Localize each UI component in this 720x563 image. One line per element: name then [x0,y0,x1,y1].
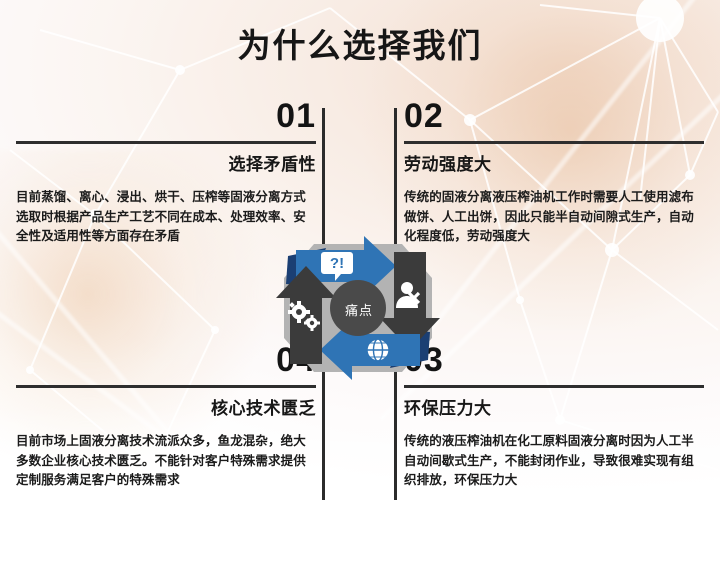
quadrant-rule-03 [404,385,704,388]
quadrant-heading-04: 核心技术匮乏 [16,397,316,421]
quadrant-number-02: 02 [404,98,704,134]
pain-point-cycle-diagram: ?! [268,228,448,388]
page-title: 为什么选择我们 [0,24,720,68]
quadrant-rule-02 [404,141,704,144]
quadrant-rule-01 [16,141,316,144]
cycle-center-circle [330,280,386,336]
quadrant-body-03: 传统的液压榨油机在化工原料固液分离时因为人工半自动间歇式生产，不能封闭作业，导致… [404,432,704,491]
quadrant-number-03: 03 [404,342,704,378]
quadrant-number-01: 01 [16,98,316,134]
slide-canvas: 为什么选择我们 01 选择矛盾性 目前蒸馏、离心、浸出、烘干、压榨等固液分离方式… [0,0,720,563]
svg-text:?!: ?! [330,255,344,272]
quadrant-heading-03: 环保压力大 [404,397,704,421]
quadrant-heading-02: 劳动强度大 [404,153,704,177]
quadrant-body-04: 目前市场上固液分离技术流派众多，鱼龙混杂，绝大多数企业核心技术匮乏。不能针对客户… [16,432,316,491]
quadrant-01: 01 选择矛盾性 目前蒸馏、离心、浸出、烘干、压榨等固液分离方式选取时根据产品生… [16,98,316,247]
globe-icon [367,339,389,361]
quadrant-body-02: 传统的固液分离液压榨油机工作时需要人工使用滤布做饼、人工出饼，因此只能半自动间隙… [404,188,704,247]
quadrant-heading-01: 选择矛盾性 [16,153,316,177]
quadrant-03: 03 环保压力大 传统的液压榨油机在化工原料固液分离时因为人工半自动间歇式生产，… [404,342,704,491]
quadrant-02: 02 劳动强度大 传统的固液分离液压榨油机工作时需要人工使用滤布做饼、人工出饼，… [404,98,704,247]
